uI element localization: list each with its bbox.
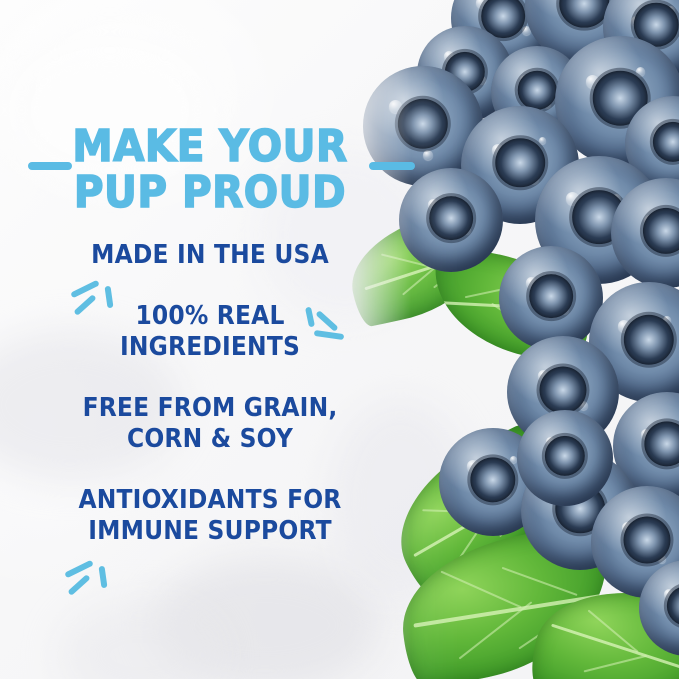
benefit-item-made-in-usa: MADE IN THE USA [21, 240, 399, 271]
benefit-list: MADE IN THE USA 100% REAL INGREDIENTS FR… [0, 240, 420, 547]
headline-line-2: PUP PROUD [17, 170, 403, 216]
benefit-item-antioxidants: ANTIOXIDANTS FOR IMMUNE SUPPORT [21, 485, 399, 547]
sparkle-icon-upper-right [300, 302, 348, 346]
benefit-line: MADE IN THE USA [21, 240, 399, 271]
page-title: MAKE YOUR PUP PROUD [17, 124, 403, 216]
product-feature-banner: MAKE YOUR PUP PROUD MADE IN THE USA 100%… [0, 0, 679, 679]
benefit-line: IMMUNE SUPPORT [21, 516, 399, 547]
benefit-item-free-from-grain: FREE FROM GRAIN, CORN & SOY [21, 393, 399, 455]
benefit-line: CORN & SOY [21, 424, 399, 455]
blueberry-icon [639, 560, 679, 656]
benefit-line: FREE FROM GRAIN, [21, 393, 399, 424]
sparkle-icon-upper-left [68, 278, 114, 320]
headline-line-1: MAKE YOUR [72, 121, 347, 172]
sparkle-icon-lower-left [62, 558, 108, 602]
benefit-line: ANTIOXIDANTS FOR [21, 485, 399, 516]
blueberry-icon [611, 178, 679, 288]
blueberry-icon [499, 246, 603, 350]
